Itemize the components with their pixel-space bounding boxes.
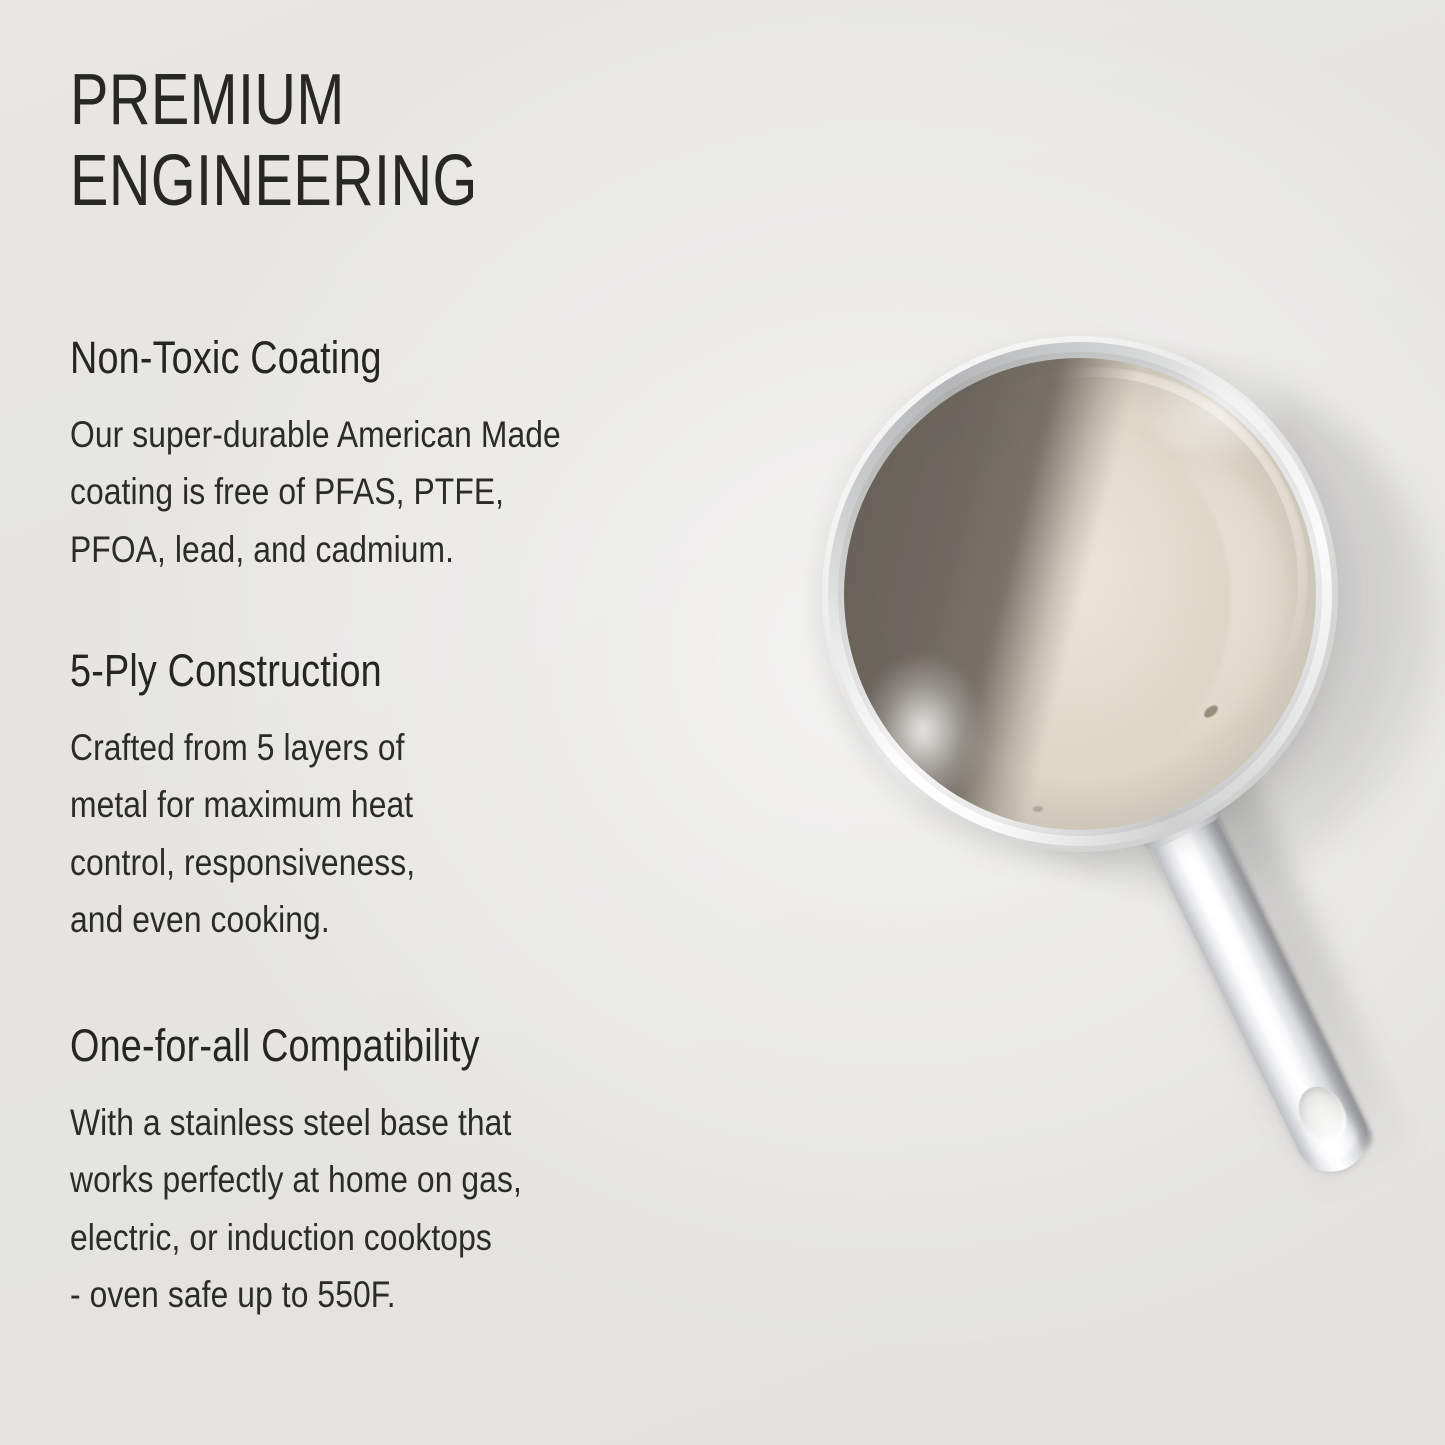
product-image-saucepan xyxy=(760,290,1445,1350)
feature-body: With a stainless steel base that works p… xyxy=(70,1094,758,1323)
feature-body: Crafted from 5 layers of metal for maxim… xyxy=(70,719,758,948)
saucepan-body xyxy=(822,336,1338,852)
promo-graphic: PREMIUM ENGINEERING Non-Toxic Coating Ou… xyxy=(0,0,1445,1445)
feature-body: Our super-durable American Made coating … xyxy=(70,406,758,578)
page-title: PREMIUM ENGINEERING xyxy=(70,60,710,221)
pot-interior-coating xyxy=(844,358,1316,830)
feature-5-ply-construction: 5-Ply Construction Crafted from 5 layers… xyxy=(70,645,870,948)
interior-cast-shadow xyxy=(844,358,1316,830)
feature-title: One-for-all Compatibility xyxy=(70,1020,742,1072)
feature-non-toxic-coating: Non-Toxic Coating Our super-durable Amer… xyxy=(70,332,870,578)
feature-one-for-all-compatibility: One-for-all Compatibility With a stainle… xyxy=(70,1020,870,1323)
copy-column: PREMIUM ENGINEERING Non-Toxic Coating Ou… xyxy=(70,60,870,221)
feature-title: 5-Ply Construction xyxy=(70,645,742,697)
feature-title: Non-Toxic Coating xyxy=(70,332,742,384)
